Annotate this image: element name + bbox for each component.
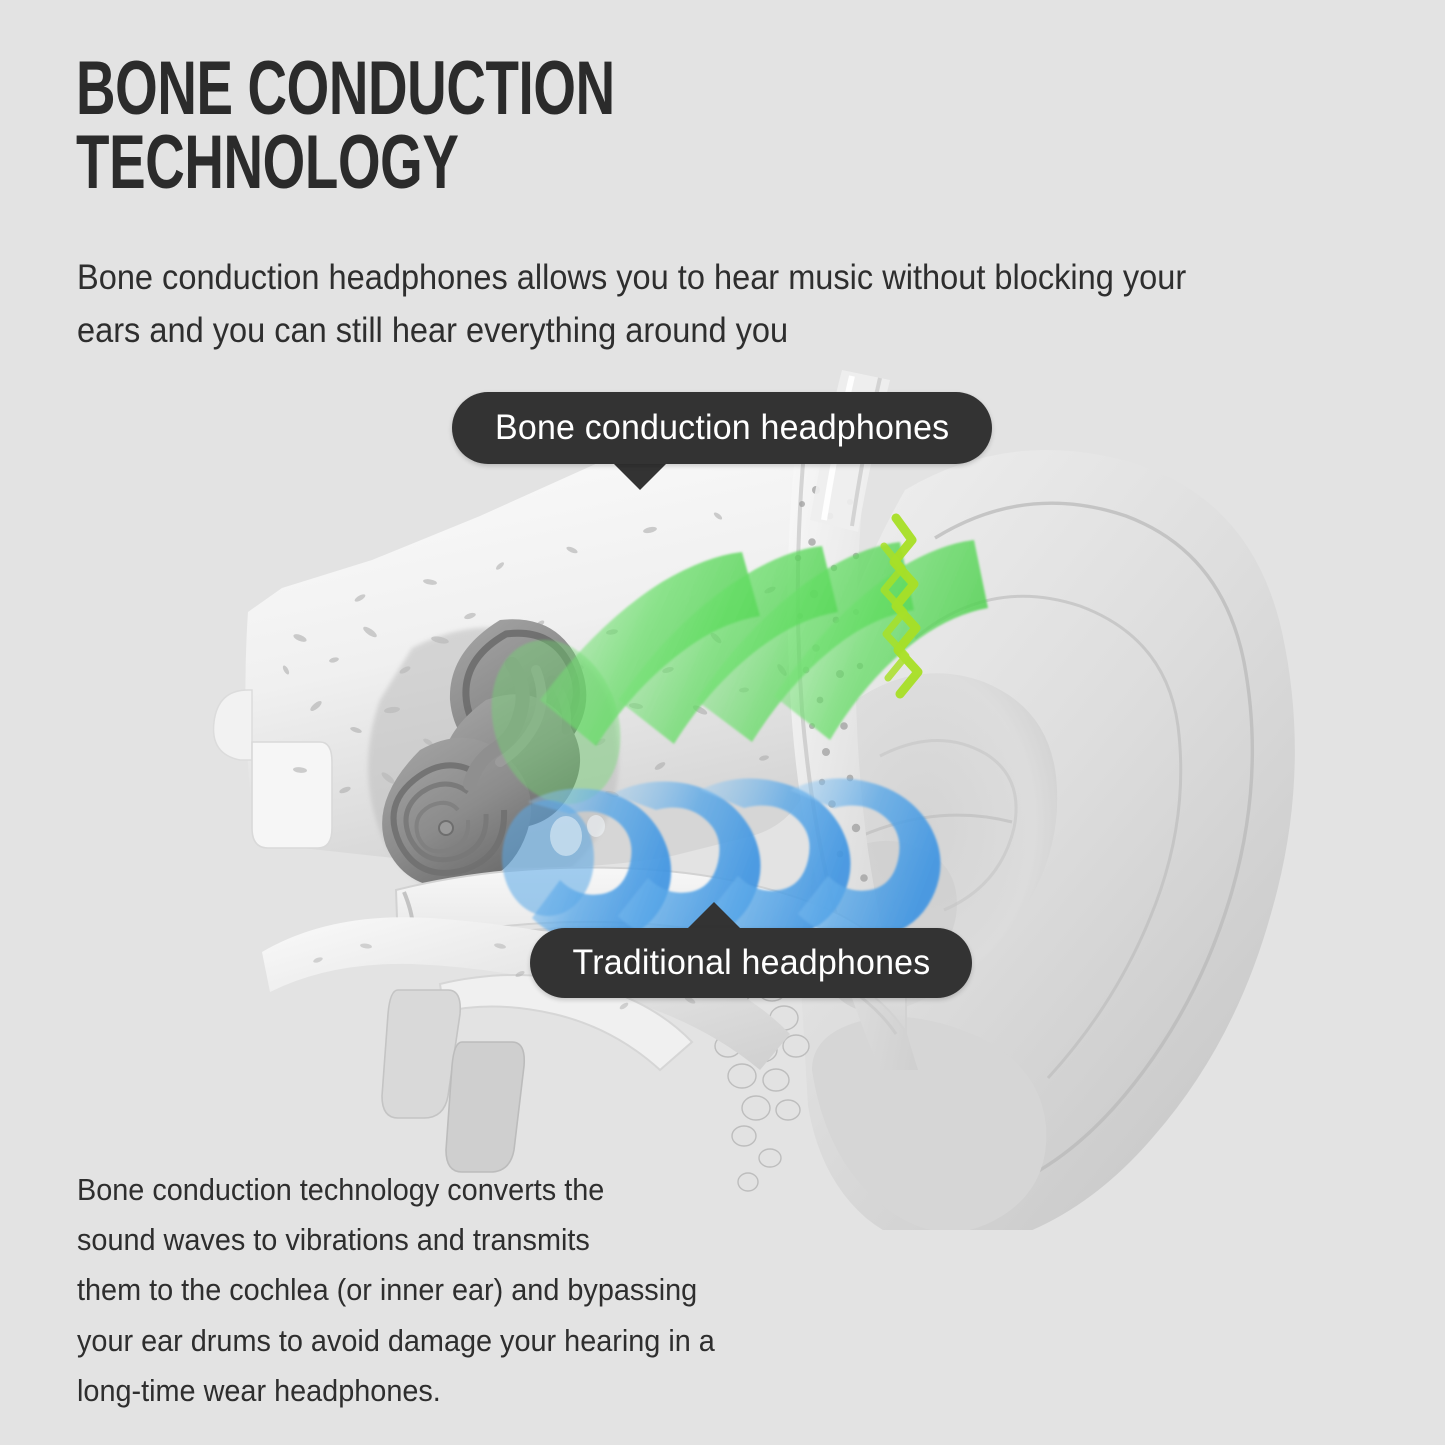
callout-traditional-label: Traditional headphones (572, 943, 930, 983)
callout-traditional-headphones[interactable]: Traditional headphones (530, 928, 972, 998)
styloid-process-right (446, 1042, 524, 1172)
ear-anatomy-illustration (0, 370, 1445, 1230)
infographic-page: BONE CONDUCTION TECHNOLOGY Bone conducti… (0, 0, 1445, 1445)
styloid-process-left (382, 990, 460, 1118)
callout-bone-conduction-headphones[interactable]: Bone conduction headphones (452, 392, 992, 464)
callout-bone-label: Bone conduction headphones (495, 408, 949, 448)
blue-wave-source (502, 800, 594, 916)
bone-cylinder-lower (252, 742, 332, 848)
page-subtitle: Bone conduction headphones allows you to… (77, 252, 1221, 357)
body-paragraph: Bone conduction technology converts the … (77, 1165, 840, 1416)
callout-bone-pointer (612, 462, 668, 490)
cochlea-apex (439, 821, 453, 835)
bone-cylinder-upper (214, 690, 252, 760)
callout-traditional-pointer (686, 902, 742, 930)
page-title: BONE CONDUCTION TECHNOLOGY (76, 52, 796, 201)
